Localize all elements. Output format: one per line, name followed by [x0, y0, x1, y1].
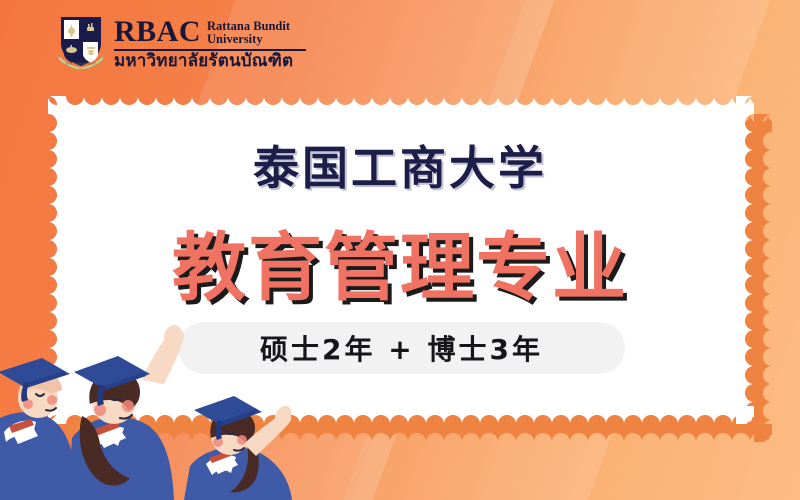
university-crest-icon: RATTANA BUNDIT: [56, 14, 106, 69]
logo-fullname-line2: University: [207, 32, 263, 46]
svg-text:RATTANA BUNDIT: RATTANA BUNDIT: [66, 62, 97, 66]
student-figure-right: [184, 396, 292, 500]
logo-fullname-line1: Rattana Bundit: [207, 19, 290, 33]
student-figure-left: [0, 358, 74, 500]
major-title: 教育管理专业: [0, 208, 800, 315]
graduating-students-illustration: [0, 320, 324, 500]
promo-poster: RATTANA BUNDIT RBAC Rattana Bundit Unive…: [0, 0, 800, 500]
logo-wordmark: RBAC Rattana Bundit University มหาวิทยาล…: [114, 14, 306, 72]
logo-acronym: RBAC: [114, 17, 201, 47]
university-logo: RATTANA BUNDIT RBAC Rattana Bundit Unive…: [56, 14, 306, 72]
logo-fullname: Rattana Bundit University: [207, 20, 290, 48]
student-figure-middle-arm: [142, 325, 184, 384]
logo-thai-name: มหาวิทยาลัยรัตนบัณฑิต: [114, 52, 306, 72]
university-title: 泰国工商大学: [0, 132, 800, 198]
